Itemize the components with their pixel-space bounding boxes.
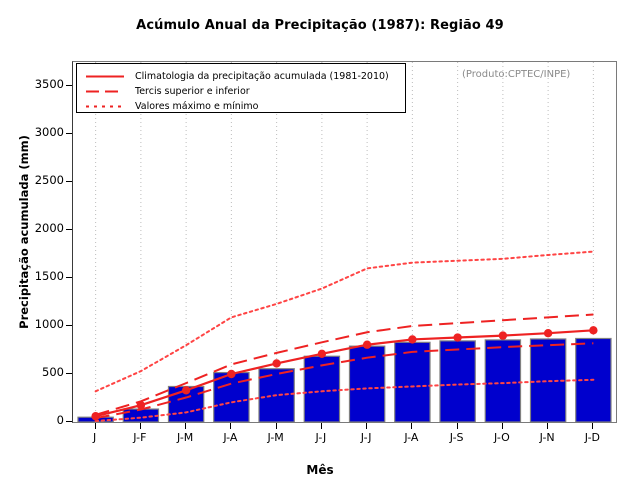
y-tick-label: 3500 xyxy=(8,77,64,91)
y-tick-label: 1500 xyxy=(8,269,64,283)
climatology-marker xyxy=(227,370,235,378)
y-tick-label: 3000 xyxy=(8,125,64,139)
x-tick-mark xyxy=(95,423,96,429)
climatology-marker xyxy=(272,359,280,367)
climatology-marker xyxy=(137,401,145,409)
x-tick-label: J-D xyxy=(562,431,622,444)
plot-area xyxy=(72,61,617,423)
y-tick-label: 0 xyxy=(8,413,64,427)
chart-legend: Climatologia da precipitação acumulada (… xyxy=(76,63,406,113)
bar xyxy=(395,342,430,422)
legend-label-terciles: Tercis superior e inferior xyxy=(135,84,250,99)
x-tick-mark xyxy=(547,423,548,429)
climatology-marker xyxy=(499,331,507,339)
legend-solid-line-icon xyxy=(83,69,127,84)
climatology-marker xyxy=(318,350,326,358)
legend-dotted-line-icon xyxy=(83,99,127,114)
legend-label-climatology: Climatologia da precipitação acumulada (… xyxy=(135,69,389,84)
x-tick-mark xyxy=(457,423,458,429)
legend-label-extremes: Valores máximo e mínimo xyxy=(135,99,258,114)
climatology-marker xyxy=(453,333,461,341)
climatology-marker xyxy=(182,386,190,394)
y-tick-label: 1000 xyxy=(8,317,64,331)
climatology-marker xyxy=(589,326,597,334)
precipitation-chart-figure: Acúmulo Anual da Precipitação (1987): Re… xyxy=(0,0,640,500)
climatology-marker xyxy=(544,329,552,337)
x-tick-mark xyxy=(411,423,412,429)
x-tick-mark xyxy=(185,423,186,429)
bar xyxy=(485,340,520,422)
y-tick-label: 500 xyxy=(8,365,64,379)
x-tick-mark xyxy=(230,423,231,429)
climatology-marker xyxy=(91,412,99,420)
x-tick-mark xyxy=(366,423,367,429)
chart-title: Acúmulo Anual da Precipitação (1987): Re… xyxy=(0,18,640,33)
x-tick-mark xyxy=(276,423,277,429)
x-tick-mark xyxy=(502,423,503,429)
x-tick-mark xyxy=(592,423,593,429)
y-tick-label: 2500 xyxy=(8,173,64,187)
attribution-text: (Produto:CPTEC/INPE) xyxy=(462,69,570,80)
bar xyxy=(440,341,475,422)
plot-svg xyxy=(73,62,616,422)
climatology-marker xyxy=(408,335,416,343)
x-tick-mark xyxy=(140,423,141,429)
x-axis-label: Mês xyxy=(0,463,640,477)
x-tick-mark xyxy=(321,423,322,429)
legend-dashed-line-icon xyxy=(83,84,127,99)
climatology-marker xyxy=(363,341,371,349)
y-tick-label: 2000 xyxy=(8,221,64,235)
